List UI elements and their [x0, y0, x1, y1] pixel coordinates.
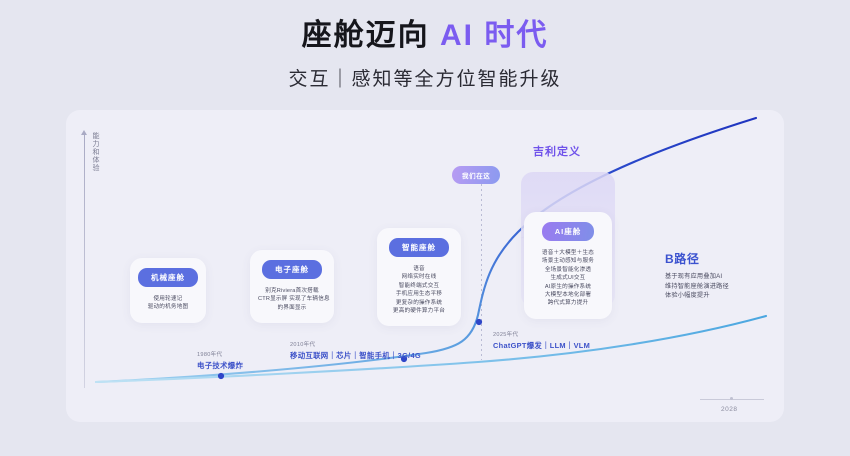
desc-line: 场景主动感知与服务 — [532, 257, 604, 265]
desc-line: 跨代式算力提升 — [532, 299, 604, 307]
stage-description: 语音＋大模型＋生态 场景主动感知与服务 全场景智能化渗透 生成式UI交互 AI原… — [532, 249, 604, 308]
era-annotation-2010: 2010年代 移动互联网｜芯片｜智能手机｜3G/4G — [290, 340, 421, 361]
era-description: ChatGPT爆发｜LLM｜VLM — [493, 340, 590, 351]
bpath-line: 体验小幅度提升 — [665, 291, 729, 301]
marker-dot-1980 — [218, 373, 224, 379]
stage-card-ai[interactable]: AI座舱 语音＋大模型＋生态 场景主动感知与服务 全场景智能化渗透 生成式UI交… — [524, 212, 612, 319]
page-title-accent: AI 时代 — [440, 19, 548, 52]
bpath-line: 维持智能座舱演进路径 — [665, 282, 729, 292]
desc-line: 生成式UI交互 — [532, 274, 604, 282]
era-year: 1980年代 — [197, 350, 243, 358]
era-annotation-2025: 2025年代 ChatGPT爆发｜LLM｜VLM — [493, 330, 590, 351]
curve-a-path — [96, 118, 756, 382]
era-description: 移动互联网｜芯片｜智能手机｜3G/4G — [290, 350, 421, 361]
era-description: 电子技术爆炸 — [197, 360, 243, 371]
page-header: 座舱迈向 AI 时代 交互｜感知等全方位智能升级 — [0, 0, 850, 91]
geely-definition-label: 吉利定义 — [533, 143, 581, 159]
desc-line: 全场景智能化渗透 — [532, 266, 604, 274]
bpath-line: 基于现有应用叠加AI — [665, 272, 729, 282]
era-year: 2025年代 — [493, 330, 590, 338]
bpath-title: B路径 — [665, 250, 729, 267]
era-year: 2010年代 — [290, 340, 421, 348]
era-annotation-1980: 1980年代 电子技术爆炸 — [197, 350, 243, 371]
bpath-description: 基于现有应用叠加AI 维持智能座舱演进路径 体验小幅度提升 — [665, 272, 729, 301]
page-title: 座舱迈向 AI 时代 — [0, 16, 850, 56]
desc-line: 大模型本地化部署 — [532, 291, 604, 299]
stage-badge: AI座舱 — [542, 222, 595, 241]
desc-line: 语音＋大模型＋生态 — [532, 249, 604, 257]
here-badge: 我们在这 — [452, 166, 500, 184]
curve-b-path — [96, 316, 766, 382]
page-subtitle: 交互｜感知等全方位智能升级 — [0, 64, 850, 91]
bpath-annotation: B路径 基于现有应用叠加AI 维持智能座舱演进路径 体验小幅度提升 — [665, 250, 729, 301]
desc-line: AI原生的操作系统 — [532, 283, 604, 291]
marker-dot-2025 — [476, 319, 482, 325]
page-title-main: 座舱迈向 — [302, 19, 430, 52]
